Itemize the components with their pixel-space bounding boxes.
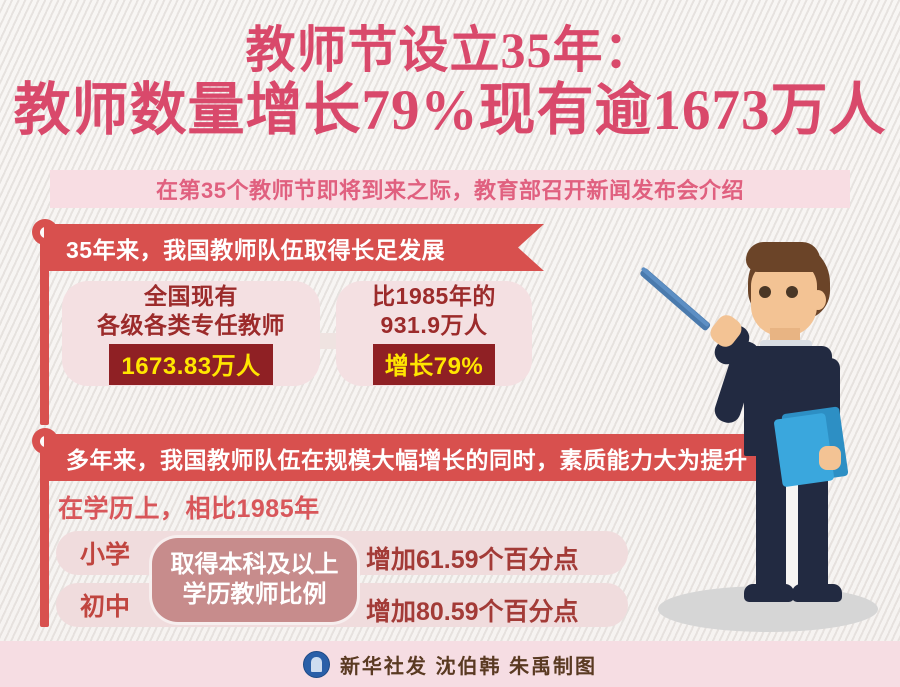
- row-1-label: 小学: [56, 535, 130, 571]
- stat-box-2-value: 增长79%: [373, 344, 496, 385]
- hair-fringe: [746, 242, 820, 272]
- stat-box-2: 比1985年的 931.9万人 增长79%: [336, 281, 532, 386]
- row-2-value: 增加80.59个百分点: [366, 592, 579, 628]
- tie: [781, 361, 791, 391]
- subtitle-text: 在第35个教师节即将到来之际，教育部召开新闻发布会介绍: [156, 173, 744, 205]
- row-1-value: 增加61.59个百分点: [366, 540, 579, 576]
- row-2-label: 初中: [56, 587, 130, 623]
- eye-left: [759, 286, 771, 298]
- stat-box-1-value: 1673.83万人: [109, 344, 272, 385]
- suit-lapel-left: [766, 346, 780, 386]
- pointer-stick-highlight: [641, 266, 710, 327]
- xinhua-logo-icon: [303, 651, 330, 678]
- subtitle-band: 在第35个教师节即将到来之际，教育部召开新闻发布会介绍: [50, 170, 850, 208]
- eye-right: [786, 286, 798, 298]
- page-title: 教师节设立35年： 教师数量增长79%现有逾1673万人: [0, 24, 900, 141]
- center-badge: 取得本科及以上 学历教师比例: [152, 538, 357, 622]
- suit-lapel-right: [792, 346, 806, 386]
- stat-box-1-line-1: 全国现有: [144, 282, 238, 310]
- ear: [810, 290, 826, 310]
- stat-box-2-line-1: 比1985年的: [372, 282, 496, 310]
- stat-box-2-line-2: 931.9万人: [380, 311, 487, 339]
- shoe-left: [744, 584, 794, 602]
- center-badge-line-2: 学历教师比例: [183, 580, 327, 610]
- section-1-banner: 35年来，我国教师队伍取得长足发展: [44, 224, 544, 271]
- center-badge-line-1: 取得本科及以上: [171, 550, 339, 580]
- title-line-2: 教师数量增长79%现有逾1673万人: [0, 81, 900, 141]
- title-line-1: 教师节设立35年：: [0, 24, 900, 77]
- hand-holding-book: [819, 446, 841, 470]
- footer-credit-text: 新华社发 沈伯韩 朱禹制图: [340, 650, 597, 679]
- section-1-banner-text: 35年来，我国教师队伍取得长足发展: [44, 231, 445, 265]
- infographic-page: 教师节设立35年： 教师数量增长79%现有逾1673万人 在第35个教师节即将到…: [0, 0, 900, 687]
- stat-box-1-line-2: 各级各类专任教师: [97, 311, 285, 339]
- section-2-sub-label: 在学历上，相比1985年: [58, 489, 320, 525]
- shoe-right: [792, 584, 842, 602]
- teacher-illustration: [620, 228, 900, 640]
- footer-credit-bar: 新华社发 沈伯韩 朱禹制图: [0, 641, 900, 687]
- xinhua-logo-inner: [311, 657, 322, 672]
- stat-box-1: 全国现有 各级各类专任教师 1673.83万人: [62, 281, 320, 386]
